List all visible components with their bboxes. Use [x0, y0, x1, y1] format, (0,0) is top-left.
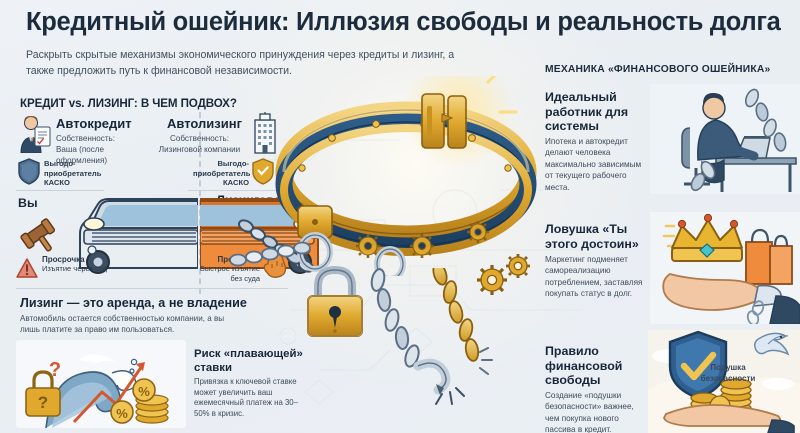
alert-left-text: Изъятие через суд: [42, 264, 107, 273]
svg-text:%: %: [116, 406, 128, 421]
party-label-left: Вы: [18, 196, 38, 210]
mechanic-2-body: Маркетинг подменяет самореализацию потре…: [545, 254, 655, 300]
mechanics-section-title: МЕХАНИКА «ФИНАНСОВОГО ОШЕЙНИКА»: [545, 64, 795, 75]
shield-blue-icon: [18, 158, 40, 185]
businessman-document-icon: [18, 113, 52, 153]
lease-note-heading: Лизинг — это аренда, а не владение: [20, 296, 247, 310]
svg-text:?: ?: [38, 393, 48, 412]
mechanic-3-body: Создание «подушки безопасности» важнее, …: [545, 390, 645, 433]
mechanic-1-heading: Идеальный работник для системы: [545, 90, 637, 134]
gavel-icon: [16, 214, 60, 254]
loose-gears-icon: [472, 252, 534, 300]
autocredit-title: Автокредит: [56, 116, 132, 131]
float-rate-illustration: ? ? % %: [16, 340, 186, 428]
safety-cushion-caption: Подушка безопасности: [690, 363, 766, 384]
crown-shopping-bags-illustration: [650, 212, 800, 324]
infographic-page: Кредитный ошейник: Иллюзия свободы и реа…: [0, 0, 800, 433]
svg-text:%: %: [138, 384, 150, 399]
page-subtitle: Раскрыть скрытые механизмы экономическог…: [26, 48, 456, 79]
float-rate-heading: Риск «плавающей» ставки: [194, 348, 306, 375]
autoleasing-title: Автолизинг: [167, 116, 242, 131]
alert-left: Просрочка Изъятие через суд: [42, 255, 110, 274]
comparison-heading: КРЕДИТ vs. ЛИЗИНГ: В ЧЕМ ПОДВОХ?: [20, 97, 237, 110]
mechanic-3-heading: Правило финансовой свободы: [545, 344, 641, 388]
page-title: Кредитный ошейник: Иллюзия свободы и реа…: [26, 8, 786, 37]
alert-left-title: Просрочка: [42, 255, 85, 264]
mechanic-1-body: Ипотека и автокредит делают человека мак…: [545, 136, 645, 193]
mechanic-2-heading: Ловушка «Ты этого достоин»: [545, 222, 661, 251]
chained-worker-illustration: [650, 84, 800, 194]
autoleasing-ownership: Собственность: Лизинговой компании: [152, 133, 247, 155]
svg-text:?: ?: [49, 359, 61, 381]
float-rate-body: Привязка к ключевой ставке может увеличи…: [194, 377, 312, 419]
divider-lease: [16, 288, 288, 289]
warning-triangle-icon: [16, 258, 38, 278]
lease-note-body: Автомобиль остается собственностью компа…: [20, 313, 235, 336]
